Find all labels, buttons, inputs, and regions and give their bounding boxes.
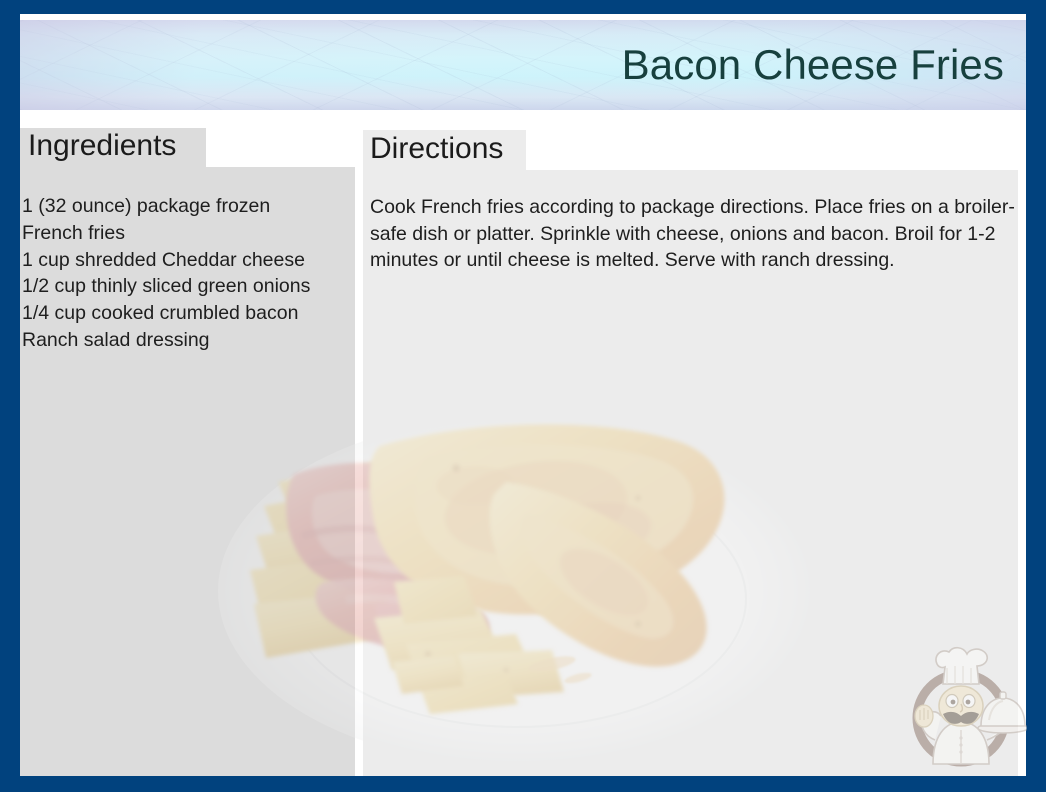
list-item: French fries bbox=[22, 220, 352, 247]
right-margin-gutter bbox=[1018, 120, 1026, 776]
recipe-slide: Bacon Cheese Fries Ingredients 1 (32 oun… bbox=[0, 0, 1046, 792]
page-title: Bacon Cheese Fries bbox=[622, 44, 1004, 86]
list-item: 1 (32 ounce) package frozen bbox=[22, 193, 352, 220]
ingredients-tab: Ingredients bbox=[20, 128, 206, 168]
ingredients-heading: Ingredients bbox=[28, 126, 176, 166]
slide-border-left bbox=[0, 0, 20, 792]
list-item: 1/4 cup cooked crumbled bacon bbox=[22, 300, 352, 327]
list-item: 1 cup shredded Cheddar cheese bbox=[22, 247, 352, 274]
header-banner: Bacon Cheese Fries bbox=[20, 20, 1026, 110]
directions-tab: Directions bbox=[363, 130, 526, 171]
slide-border-right bbox=[1026, 0, 1046, 792]
list-item: Ranch salad dressing bbox=[22, 327, 352, 354]
directions-text: Cook French fries according to package d… bbox=[370, 194, 1015, 274]
slide-border-top bbox=[0, 0, 1046, 14]
ingredients-list: 1 (32 ounce) package frozen French fries… bbox=[22, 193, 352, 354]
slide-border-bottom bbox=[0, 776, 1046, 792]
list-item: 1/2 cup thinly sliced green onions bbox=[22, 273, 352, 300]
directions-heading: Directions bbox=[370, 128, 503, 169]
column-divider bbox=[355, 120, 363, 776]
